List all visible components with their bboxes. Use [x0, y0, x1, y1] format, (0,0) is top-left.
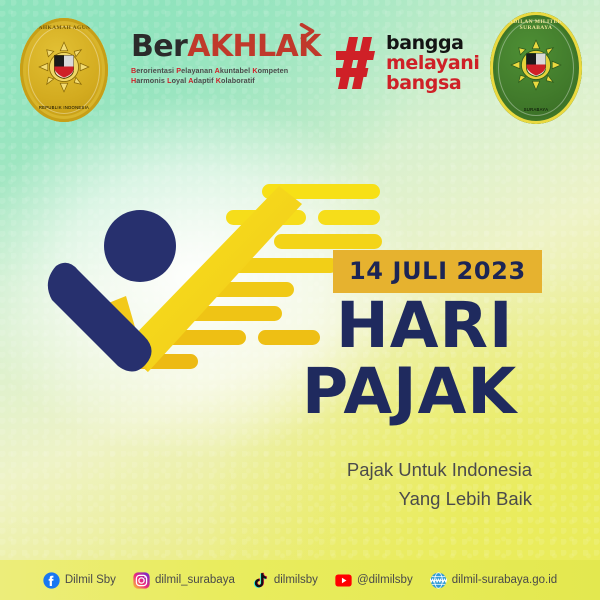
social-item-youtube[interactable]: @dilmilsby: [335, 572, 413, 589]
berakhlak-wordmark: BerAKHLAK: [131, 32, 311, 62]
berakhlak-values-line-1: Berorientasi Pelayanan Akuntabel Kompete…: [131, 66, 311, 76]
berakhlak-logo: BerAKHLAK Berorientasi Pelayanan Akuntab…: [131, 32, 311, 87]
website-icon[interactable]: WWW: [430, 572, 447, 589]
date-badge-text: 14 JULI 2023: [349, 257, 526, 285]
title-line-2: PAJAK: [302, 362, 517, 422]
national-shield-icon: [526, 52, 547, 77]
title-line-1: HARI: [336, 296, 513, 356]
person-head: [104, 210, 176, 282]
tagline: Pajak Untuk Indonesia Yang Lebih Baik: [347, 456, 532, 513]
social-label: @dilmilsby: [357, 574, 413, 586]
seal-bottom-text: SURABAYA: [490, 107, 582, 112]
youtube-icon[interactable]: [335, 572, 352, 589]
social-label: Dilmil Sby: [65, 574, 116, 586]
chevron-right-icon: [298, 23, 316, 41]
instagram-icon[interactable]: [133, 572, 150, 589]
bangga-line-2: melayani: [386, 53, 479, 73]
social-item-tiktok[interactable]: dilmilsby: [252, 572, 318, 589]
social-item-instagram[interactable]: dilmil_surabaya: [133, 572, 235, 589]
tiktok-icon[interactable]: [252, 572, 269, 589]
berakhlak-prefix: Ber: [131, 29, 187, 64]
national-shield-icon: [54, 54, 75, 79]
social-label: dilmilsby: [274, 574, 318, 586]
svg-text:WWW: WWW: [430, 578, 447, 584]
social-item-facebook[interactable]: Dilmil Sby: [43, 572, 116, 589]
poster-canvas: MAHKAMAH AGUNG REPUBLIK INDONESIA BerAKH…: [0, 0, 600, 600]
social-media-bar: Dilmil Sby dilmil_surabaya dilmilsby: [0, 560, 600, 600]
bangga-line-3: bangsa: [386, 73, 479, 93]
mahkamah-agung-seal: MAHKAMAH AGUNG REPUBLIK INDONESIA: [20, 18, 108, 122]
header-logo-bar: MAHKAMAH AGUNG REPUBLIK INDONESIA BerAKH…: [0, 0, 600, 132]
social-label: dilmil_surabaya: [155, 574, 235, 586]
seal-top-text: MAHKAMAH AGUNG: [20, 25, 108, 31]
facebook-icon[interactable]: [43, 572, 60, 589]
tagline-line-1: Pajak Untuk Indonesia: [347, 456, 532, 485]
bangga-melayani-bangsa-logo: bangga melayani bangsa: [336, 33, 486, 99]
seal-top-text: PENGADILAN MILITER III-12 SURABAYA: [490, 19, 582, 31]
date-badge: 14 JULI 2023: [333, 250, 542, 293]
bangga-line-1: bangga: [386, 33, 479, 53]
pengadilan-militer-seal: PENGADILAN MILITER III-12 SURABAYA SURAB…: [490, 12, 582, 124]
seal-bottom-text: REPUBLIK INDONESIA: [20, 105, 108, 110]
berakhlak-values-line-2: Harmonis Loyal Adaptif Kolaboratif: [131, 76, 311, 86]
tagline-line-2: Yang Lebih Baik: [347, 485, 532, 514]
social-item-website[interactable]: WWW dilmil-surabaya.go.id: [430, 572, 557, 589]
hashtag-icon: [336, 37, 378, 89]
social-label: dilmil-surabaya.go.id: [452, 574, 557, 586]
